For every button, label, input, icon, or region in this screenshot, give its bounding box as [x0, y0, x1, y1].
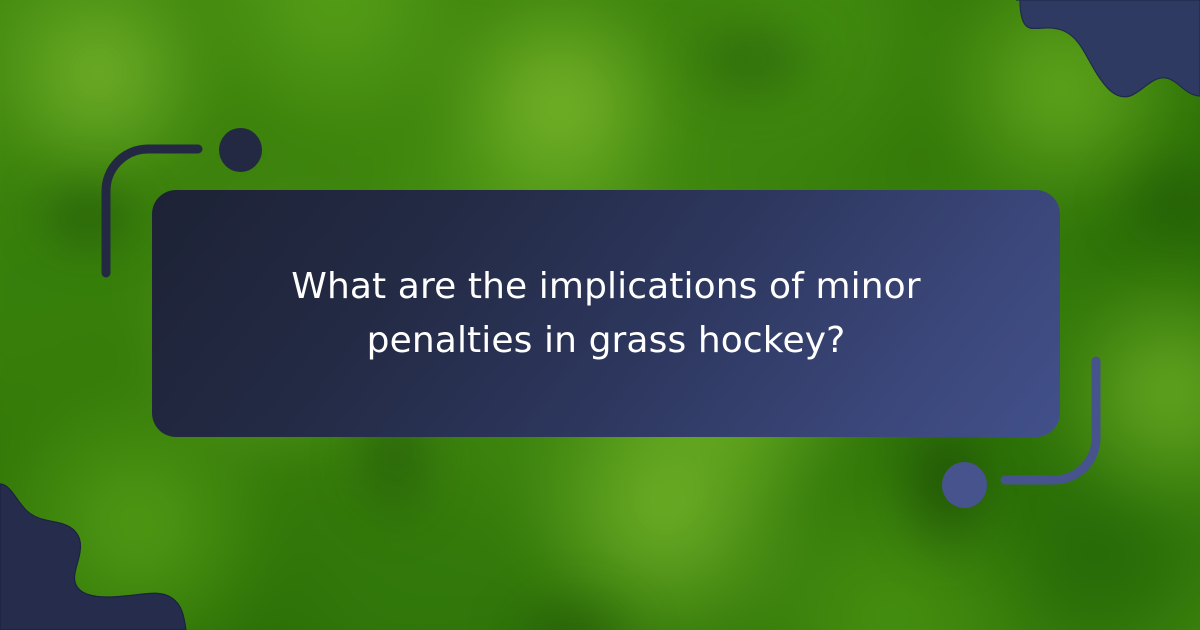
poster-canvas: What are the implications of minor penal…: [0, 0, 1200, 630]
question-card: What are the implications of minor penal…: [152, 190, 1060, 437]
organic-blob-icon: [980, 0, 1200, 140]
organic-blob-icon: [0, 470, 240, 630]
circle-dot-icon: [219, 128, 262, 172]
question-text: What are the implications of minor penal…: [211, 260, 1001, 367]
circle-dot-icon: [942, 462, 987, 508]
